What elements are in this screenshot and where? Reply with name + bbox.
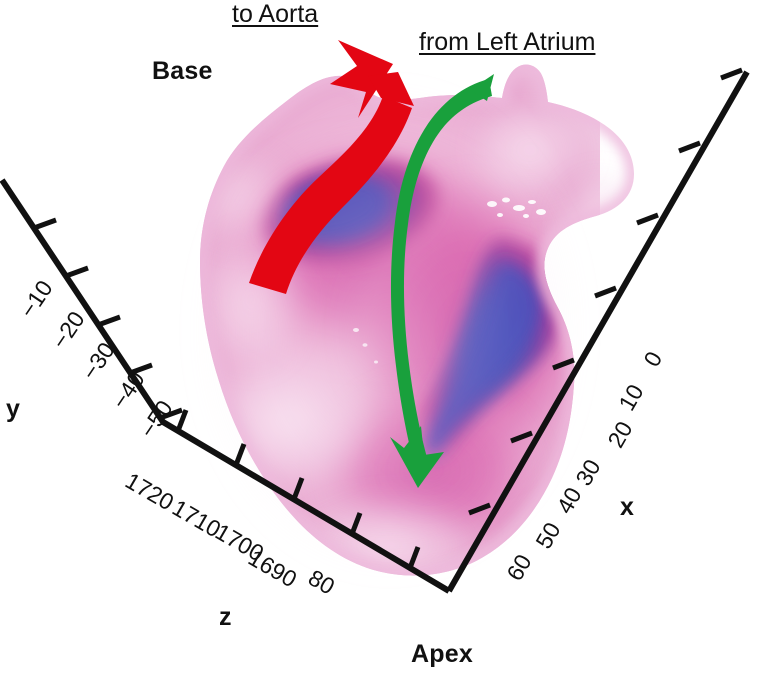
- inflow-arrow-body: [391, 79, 492, 464]
- outflow-arrow-to-aorta: [249, 40, 414, 294]
- figure-canvas: to Aorta from Left Atrium Base Apex y z …: [0, 0, 760, 675]
- inflow-arrow-head: [390, 426, 444, 488]
- inflow-arrow-from-left-atrium: [390, 74, 494, 488]
- outflow-arrow-body: [249, 96, 412, 294]
- flow-arrows-group: [0, 0, 760, 675]
